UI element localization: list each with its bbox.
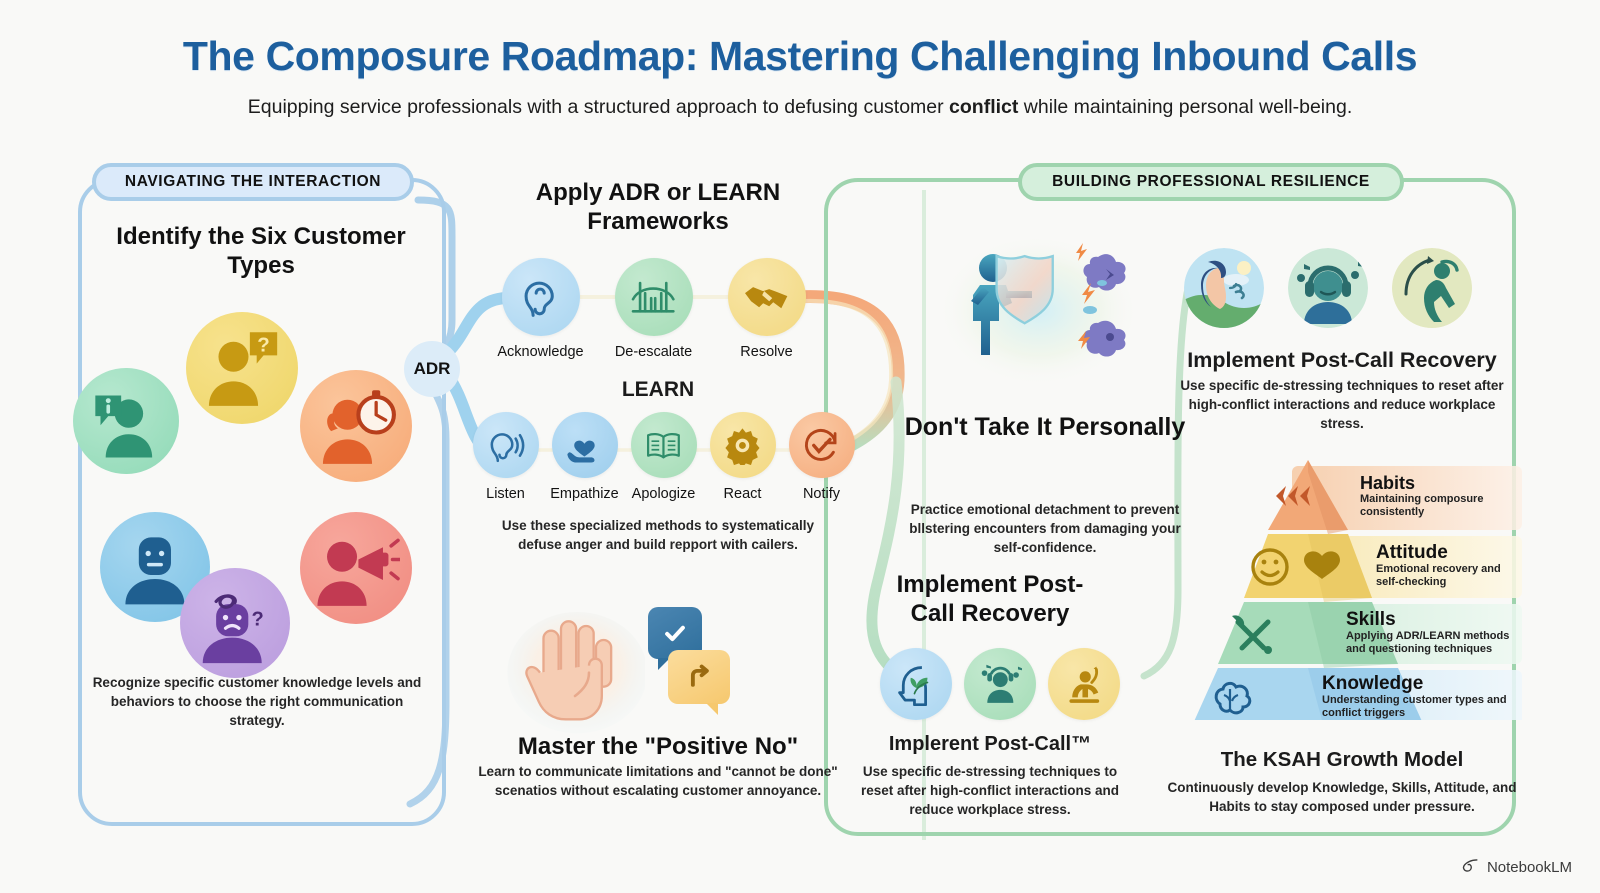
- stretching-icon: [1048, 648, 1120, 720]
- adr-step-label: De-escalate: [615, 344, 692, 360]
- informed-customer-icon: [73, 368, 179, 474]
- questioning-customer-icon: ?: [186, 312, 298, 424]
- customer-types-heading: Identify the Six Customer Types: [96, 222, 426, 281]
- post-call-recovery-caption: Use specific de-stressing techniques to …: [1174, 376, 1510, 433]
- ksah-level-name: Knowledge: [1322, 674, 1522, 694]
- impatient-customer-icon: [300, 370, 412, 482]
- ksah-level-desc: Understanding customer types and conflic…: [1322, 694, 1522, 720]
- learn-step-label: Listen: [486, 486, 525, 502]
- person-with-shield-icon: [930, 235, 1145, 395]
- ksah-level-skills: Skills Applying ADR/LEARN methods and qu…: [1338, 602, 1522, 664]
- gear-icon: [710, 412, 776, 478]
- mindfulness-head-icon: [880, 648, 952, 720]
- implement-post-call-title: Implerent Post-Call™: [862, 733, 1118, 756]
- ksah-level-habits: Habits Maintaining composure consistentl…: [1352, 464, 1522, 530]
- redirect-arrow-bubble-icon: [668, 650, 730, 704]
- stretching-person-icon: [1392, 248, 1472, 328]
- adr-step-resolve[interactable]: Resolve: [710, 258, 823, 360]
- post-call-recovery-icons: [1184, 248, 1472, 328]
- angry-customer-icon: [300, 512, 412, 624]
- ear-icon: [502, 258, 580, 336]
- customer-types-caption: Recognize specific customer knowledge le…: [92, 673, 422, 730]
- ksah-level-desc: Emotional recovery and self-checking: [1376, 563, 1522, 589]
- bridge-icon: [615, 258, 693, 336]
- ksah-level-name: Habits: [1360, 474, 1522, 493]
- check-cycle-icon: [789, 412, 855, 478]
- learn-step-empathize[interactable]: Empathize: [545, 412, 624, 502]
- confused-customer-icon: ?: [180, 568, 290, 678]
- dont-take-personally-heading: Don't Take It Personally: [900, 412, 1190, 443]
- ksah-level-knowledge: Knowledge Understanding customer types a…: [1314, 668, 1522, 726]
- panel-tag-navigating: NAVIGATING THE INTERACTION: [92, 163, 414, 201]
- subtitle-part-2: while maintaining personal well-being.: [1018, 96, 1352, 118]
- ksah-level-name: Skills: [1346, 610, 1522, 630]
- ear-listening-icon: [473, 412, 539, 478]
- subtitle-emphasis: conflict: [949, 96, 1018, 118]
- learn-step-label: Notify: [803, 486, 840, 502]
- learn-step-listen[interactable]: Listen: [466, 412, 545, 502]
- learn-step-label: React: [724, 486, 762, 502]
- frameworks-heading: Apply ADR or LEARN Frameworks: [498, 178, 818, 237]
- infographic-canvas: The Composure Roadmap: Mastering Challen…: [0, 0, 1600, 893]
- ksah-caption: Continuously develop Knowledge, Skills, …: [1152, 778, 1532, 816]
- ksah-level-desc: Applying ADR/LEARN methods and questioni…: [1346, 630, 1522, 656]
- learn-step-apologize[interactable]: Apologize: [624, 412, 703, 502]
- adr-step-chain: Acknowledge De-escalate Resolve: [484, 258, 823, 360]
- footer-brand: NotebookLM: [1461, 856, 1572, 879]
- post-call-icon-chain: [880, 648, 1120, 720]
- learn-step-label: Apologize: [632, 486, 696, 502]
- notebooklm-logo-icon: [1461, 856, 1480, 879]
- learn-step-chain: Listen Empathize Apologize: [466, 412, 861, 502]
- page-subtitle: Equipping service professionals with a s…: [0, 96, 1600, 119]
- dont-take-personally-caption: Practice emotional detachment to prevent…: [898, 500, 1192, 557]
- ksah-level-desc: Maintaining composure consistently: [1360, 493, 1522, 519]
- raised-hand-icon: [505, 612, 645, 722]
- learn-label: LEARN: [498, 378, 818, 402]
- ksah-level-name: Attitude: [1376, 543, 1522, 563]
- adr-step-label: Resolve: [740, 344, 792, 360]
- positive-no-heading: Master the "Positive No": [478, 732, 838, 761]
- adr-step-deescalate[interactable]: De-escalate: [597, 258, 710, 360]
- handshake-icon: [728, 258, 806, 336]
- adr-step-acknowledge[interactable]: Acknowledge: [484, 258, 597, 360]
- adr-step-label: Acknowledge: [497, 344, 583, 360]
- ksah-level-attitude: Attitude Emotional recovery and self-che…: [1368, 534, 1522, 598]
- music-listening-icon: [964, 648, 1036, 720]
- svg-text:?: ?: [252, 609, 264, 631]
- learn-step-label: Empathize: [550, 486, 619, 502]
- svg-text:?: ?: [258, 334, 271, 357]
- page-title: The Composure Roadmap: Mastering Challen…: [0, 33, 1600, 80]
- post-call-recovery-heading: Implement Post-Call Recovery: [1168, 348, 1516, 373]
- positive-no-caption: Learn to communicate limitations and "ca…: [470, 762, 846, 800]
- ksah-pyramid: Habits Maintaining composure consistentl…: [1172, 452, 1522, 720]
- open-book-icon: [631, 412, 697, 478]
- panel-tag-resilience: BUILDING PROFESSIONAL RESILIENCE: [1018, 163, 1404, 201]
- footer-brand-label: NotebookLM: [1487, 859, 1572, 876]
- headphones-music-icon: [1288, 248, 1368, 328]
- learn-step-notify[interactable]: Notify: [782, 412, 861, 502]
- frameworks-caption: Use these specialized methods to systema…: [480, 516, 836, 554]
- ksah-title: The KSAH Growth Model: [1162, 748, 1522, 772]
- learn-step-react[interactable]: React: [703, 412, 782, 502]
- breathing-outdoors-icon: [1184, 248, 1264, 328]
- implement-post-call-heading: Implement Post-Call Recovery: [885, 570, 1095, 629]
- adr-badge: ADR: [404, 341, 460, 397]
- subtitle-part-1: Equipping service professionals with a s…: [248, 96, 949, 118]
- implement-post-call-caption: Use specific de-stressing techniques to …: [852, 762, 1128, 819]
- heart-in-hand-icon: [552, 412, 618, 478]
